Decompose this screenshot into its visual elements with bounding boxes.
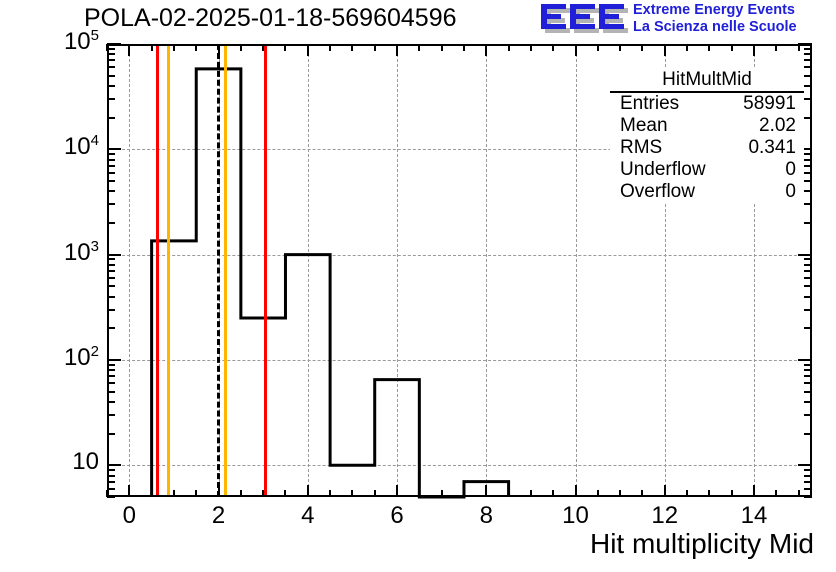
x-axis-label: 14: [741, 502, 768, 530]
y-axis-tick-minor-right: [804, 172, 812, 174]
y-axis-tick-minor: [107, 117, 115, 119]
y-axis-tick-minor: [107, 203, 115, 205]
y-axis-tick-major-right: [798, 359, 812, 361]
y-axis-tick-minor: [107, 481, 115, 483]
y-axis-label: 10: [0, 448, 99, 476]
x-axis-tick-minor: [775, 490, 777, 497]
y-axis-tick-minor: [107, 375, 115, 377]
x-axis-tick-major-top: [128, 44, 130, 56]
y-axis-tick-minor-right: [804, 401, 812, 403]
x-axis-tick-minor: [151, 490, 153, 497]
stats-row: Overflow0: [610, 181, 804, 203]
y-axis-tick-minor: [107, 309, 115, 311]
eee-logo-line-1: Extreme Energy Events: [633, 2, 797, 19]
x-axis-tick-minor-top: [775, 44, 777, 51]
y-axis-tick-minor: [107, 285, 115, 287]
x-axis-tick-minor-top: [329, 44, 331, 51]
y-axis-tick-minor: [107, 66, 115, 68]
y-axis-tick-major-right: [798, 464, 812, 466]
eee-logo-text: Extreme Energy Events La Scienza nelle S…: [633, 2, 797, 36]
y-axis-tick-major: [107, 43, 121, 45]
x-axis-tick-minor: [552, 490, 554, 497]
x-axis-tick-minor-top: [798, 44, 800, 51]
y-axis-tick-minor-right: [804, 414, 812, 416]
x-axis-tick-major-top: [485, 44, 487, 56]
y-axis-tick-minor-right: [804, 48, 812, 50]
y-axis-tick-minor: [107, 180, 115, 182]
y-axis-tick-minor-right: [804, 270, 812, 272]
y-axis-tick-major: [107, 148, 121, 150]
x-axis-tick-minor-top: [195, 44, 197, 51]
y-axis-tick-major: [107, 464, 121, 466]
eee-logo: Extreme Energy Events La Scienza nelle S…: [540, 2, 832, 40]
x-axis-label: 4: [301, 502, 314, 530]
x-axis-tick-minor: [731, 490, 733, 497]
y-axis-tick-minor: [107, 270, 115, 272]
stats-row-label: Underflow: [620, 159, 706, 181]
x-axis-tick-minor: [508, 490, 510, 497]
y-axis-tick-major: [107, 359, 121, 361]
y-axis-tick-minor: [107, 296, 115, 298]
y-axis-label: 102: [0, 343, 99, 372]
x-axis-tick-minor: [463, 490, 465, 497]
y-axis-tick-minor-right: [804, 98, 812, 100]
y-axis-tick-minor-right: [804, 364, 812, 366]
x-axis-label: 8: [480, 502, 493, 530]
x-axis-tick-minor-top: [686, 44, 688, 51]
y-axis-tick-minor-right: [804, 165, 812, 167]
x-axis-tick-minor-top: [597, 44, 599, 51]
y-axis-label: 103: [0, 238, 99, 267]
y-axis-tick-minor-right: [804, 488, 812, 490]
x-axis-tick-minor: [284, 490, 286, 497]
stats-row-value: 0: [785, 181, 796, 203]
x-axis-tick-minor-top: [284, 44, 286, 51]
y-axis-tick-minor: [107, 53, 115, 55]
stats-row: RMS0.341: [610, 137, 804, 159]
y-axis-tick-minor: [107, 258, 115, 260]
y-axis-tick-minor: [107, 475, 115, 477]
y-axis-tick-minor-right: [804, 285, 812, 287]
x-axis-title: Hit multiplicity Mid: [590, 528, 814, 560]
x-axis-tick-minor: [597, 490, 599, 497]
y-axis-tick-minor: [107, 496, 115, 498]
x-axis-tick-minor-top: [173, 44, 175, 51]
stats-box: HitMultMid Entries58991Mean2.02RMS0.341U…: [610, 68, 804, 204]
x-axis-tick-minor: [686, 490, 688, 497]
x-axis-tick-minor-top: [619, 44, 621, 51]
y-axis-tick-minor: [107, 364, 115, 366]
y-axis-tick-major-right: [798, 43, 812, 45]
y-axis-tick-minor-right: [804, 481, 812, 483]
x-axis-tick-major: [664, 485, 666, 497]
x-axis-tick-major: [753, 485, 755, 497]
y-axis-tick-minor: [107, 264, 115, 266]
y-axis-tick-minor: [107, 190, 115, 192]
x-axis-tick-major-top: [753, 44, 755, 56]
x-axis-tick-minor: [708, 490, 710, 497]
x-axis-tick-minor-top: [374, 44, 376, 51]
y-axis-tick-minor-right: [804, 469, 812, 471]
y-axis-tick-minor-right: [804, 264, 812, 266]
x-axis-tick-minor-top: [708, 44, 710, 51]
x-axis-tick-minor-top: [530, 44, 532, 51]
x-axis-tick-major-top: [307, 44, 309, 56]
y-axis-tick-minor-right: [804, 296, 812, 298]
y-axis-tick-minor-right: [804, 309, 812, 311]
y-axis-tick-minor-right: [804, 53, 812, 55]
x-axis-label: 2: [212, 502, 225, 530]
y-axis-tick-minor-right: [804, 369, 812, 371]
page-title: POLA-02-2025-01-18-569604596: [84, 4, 457, 33]
y-axis-tick-minor: [107, 165, 115, 167]
x-axis-tick-minor: [195, 490, 197, 497]
x-axis-tick-minor-top: [552, 44, 554, 51]
y-axis-tick-minor: [107, 469, 115, 471]
y-axis-tick-minor-right: [804, 66, 812, 68]
stats-row: Entries58991: [610, 93, 804, 115]
x-axis-tick-minor-top: [262, 44, 264, 51]
x-axis-label: 0: [123, 502, 136, 530]
x-axis-label: 6: [390, 502, 403, 530]
x-axis-tick-minor-top: [418, 44, 420, 51]
x-axis-tick-major: [128, 485, 130, 497]
y-axis-tick-minor-right: [804, 277, 812, 279]
x-axis-tick-major-top: [664, 44, 666, 56]
y-axis-tick-major-right: [798, 254, 812, 256]
x-axis-tick-minor-top: [240, 44, 242, 51]
stats-row-label: Entries: [620, 93, 679, 115]
y-axis-tick-minor-right: [804, 496, 812, 498]
y-axis-tick-minor-right: [804, 327, 812, 329]
x-axis-tick-minor: [441, 490, 443, 497]
stats-row: Underflow0: [610, 159, 804, 181]
y-axis-tick-minor-right: [804, 59, 812, 61]
stats-row-label: RMS: [620, 137, 662, 159]
y-axis-tick-minor: [107, 222, 115, 224]
x-axis-tick-minor: [329, 490, 331, 497]
x-axis-tick-major: [396, 485, 398, 497]
x-axis-tick-major: [307, 485, 309, 497]
y-axis-tick-minor-right: [804, 391, 812, 393]
y-axis-tick-minor-right: [804, 203, 812, 205]
x-axis-tick-minor: [530, 490, 532, 497]
x-axis-tick-minor: [351, 490, 353, 497]
x-axis-tick-major-top: [218, 44, 220, 56]
x-axis-tick-minor-top: [508, 44, 510, 51]
x-axis-tick-major-top: [396, 44, 398, 56]
x-axis-tick-major-top: [575, 44, 577, 56]
y-axis-tick-minor: [107, 414, 115, 416]
y-axis-tick-minor: [107, 172, 115, 174]
x-axis-tick-minor-top: [641, 44, 643, 51]
y-axis-tick-minor: [107, 75, 115, 77]
y-axis-tick-minor: [107, 369, 115, 371]
x-axis-tick-minor: [418, 490, 420, 497]
stats-row-label: Overflow: [620, 181, 695, 203]
eee-mark-icon: [540, 3, 628, 37]
y-axis-tick-minor-right: [804, 382, 812, 384]
y-axis-tick-minor: [107, 391, 115, 393]
y-axis-tick-minor-right: [804, 153, 812, 155]
y-axis-tick-minor: [107, 327, 115, 329]
stats-box-title: HitMultMid: [610, 68, 804, 93]
x-axis-tick-minor: [173, 490, 175, 497]
y-axis-tick-minor: [107, 382, 115, 384]
y-axis-tick-minor: [107, 48, 115, 50]
y-axis-tick-minor: [107, 159, 115, 161]
y-axis-tick-minor: [107, 153, 115, 155]
y-axis-tick-minor: [107, 59, 115, 61]
stats-row-value: 0.341: [748, 137, 796, 159]
y-axis-tick-major: [107, 254, 121, 256]
y-axis-tick-minor-right: [804, 75, 812, 77]
y-axis-tick-minor-right: [804, 180, 812, 182]
x-axis-tick-minor-top: [351, 44, 353, 51]
y-axis-tick-minor-right: [804, 190, 812, 192]
x-axis-tick-minor-top: [731, 44, 733, 51]
y-axis-tick-minor-right: [804, 375, 812, 377]
root-canvas: POLA-02-2025-01-18-569604596 Extreme: [0, 0, 836, 572]
stats-row-value: 2.02: [759, 115, 796, 137]
x-axis-tick-minor-top: [151, 44, 153, 51]
y-axis-tick-minor: [107, 85, 115, 87]
stats-row-value: 0: [785, 159, 796, 181]
x-axis-tick-minor: [641, 490, 643, 497]
x-axis-tick-major: [575, 485, 577, 497]
x-axis-tick-minor: [619, 490, 621, 497]
y-axis-tick-minor-right: [804, 475, 812, 477]
x-axis-tick-minor: [798, 490, 800, 497]
stats-row-value: 58991: [743, 93, 796, 115]
x-axis-tick-major: [485, 485, 487, 497]
x-axis-tick-minor: [262, 490, 264, 497]
y-axis-tick-minor-right: [804, 85, 812, 87]
y-axis-tick-minor-right: [804, 258, 812, 260]
y-axis-tick-minor: [107, 98, 115, 100]
y-axis-tick-minor: [107, 401, 115, 403]
x-axis-label: 12: [651, 502, 678, 530]
x-axis-label: 10: [562, 502, 589, 530]
x-axis-tick-major: [218, 485, 220, 497]
y-axis-label: 104: [0, 132, 99, 161]
x-axis-tick-minor: [240, 490, 242, 497]
y-axis-tick-minor-right: [804, 159, 812, 161]
y-axis-tick-minor: [107, 488, 115, 490]
y-axis-tick-minor: [107, 433, 115, 435]
stats-row-label: Mean: [620, 115, 668, 137]
y-axis-tick-minor: [107, 277, 115, 279]
stats-row: Mean2.02: [610, 115, 804, 137]
y-axis-tick-minor-right: [804, 222, 812, 224]
y-axis-tick-minor-right: [804, 117, 812, 119]
eee-logo-line-2: La Scienza nelle Scuole: [633, 19, 797, 36]
x-axis-tick-minor-top: [441, 44, 443, 51]
stats-rows: Entries58991Mean2.02RMS0.341Underflow0Ov…: [610, 93, 804, 203]
x-axis-tick-minor-top: [463, 44, 465, 51]
x-axis-tick-minor: [374, 490, 376, 497]
y-axis-tick-minor-right: [804, 433, 812, 435]
y-axis-label: 105: [0, 27, 99, 56]
